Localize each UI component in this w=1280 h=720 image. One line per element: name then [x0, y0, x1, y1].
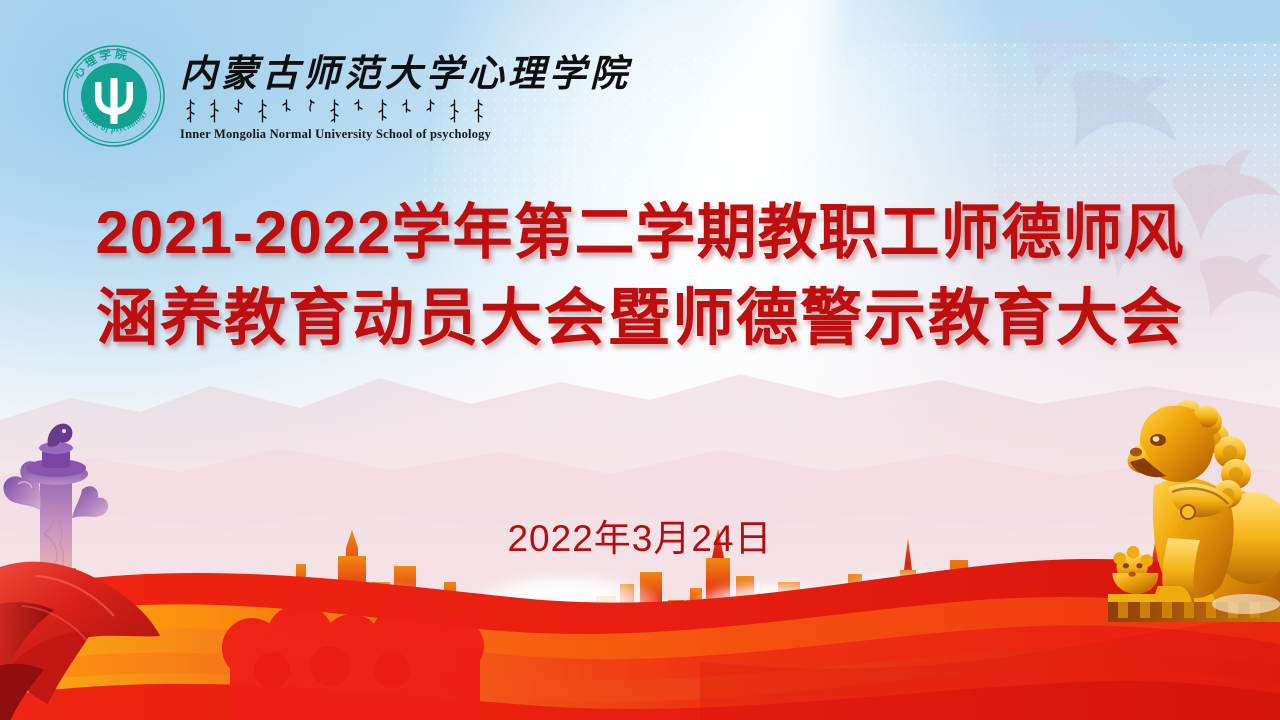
organization-name-block: 内蒙古师范大学心理学院 Inner Mongolia Normal Univer… — [180, 50, 631, 143]
psi-emblem-icon: 心理学院 School of psychology — [62, 44, 166, 148]
organization-header: 心理学院 School of psychology 内蒙古师范大学心理学院 — [62, 44, 631, 148]
poster-title: 2021-2022学年第二学期教职工师德师风 涵养教育动员大会暨师德警示教育大会 — [0, 190, 1280, 362]
org-name-cn: 内蒙古师范大学心理学院 — [180, 56, 631, 95]
title-line-1: 2021-2022学年第二学期教职工师德师风 — [0, 190, 1280, 276]
org-name-mongolian — [180, 98, 631, 124]
title-line-2: 涵养教育动员大会暨师德警示教育大会 — [0, 276, 1280, 362]
red-silk-ribbon-icon — [0, 540, 204, 720]
event-date: 2022年3月24日 — [0, 508, 1280, 562]
org-name-en: Inner Mongolia Normal University School … — [180, 127, 631, 142]
poster-canvas: 心理学院 School of psychology 内蒙古师范大学心理学院 — [0, 0, 1280, 720]
